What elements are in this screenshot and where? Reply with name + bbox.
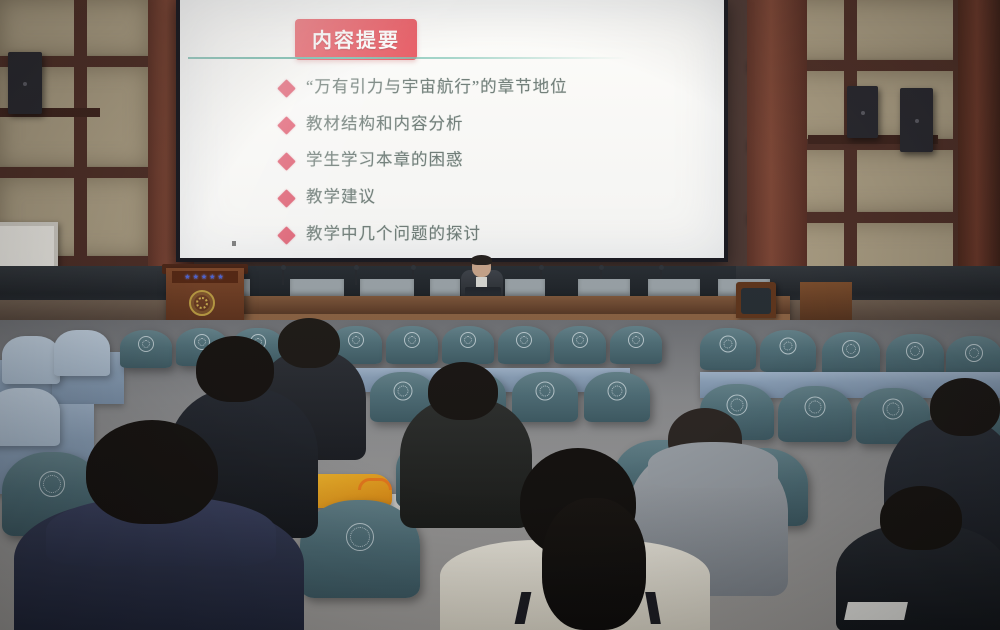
ponytail <box>542 498 646 630</box>
diamond-bullet-icon <box>277 79 295 97</box>
slide-bullet-item: 教学建议 <box>280 187 700 208</box>
seat-emblem-icon <box>780 337 797 354</box>
auditorium-seat[interactable] <box>512 372 578 422</box>
stage-side-table <box>800 282 852 320</box>
slide-bullet-text: 学生学习本章的困惑 <box>306 150 464 171</box>
lectern-emblem-icon <box>189 290 215 316</box>
papers-on-table <box>844 602 908 620</box>
diamond-bullet-icon <box>277 153 295 171</box>
wood-pilaster-right <box>747 0 807 300</box>
slide-bullet-item: 学生学习本章的困惑 <box>280 150 700 171</box>
presentation-slide: 内容提要 “万有引力与宇宙航行”的章节地位 教材结构和内容分析 学生学习本章的困… <box>180 0 724 258</box>
seat-emblem-icon <box>842 340 860 358</box>
slide-bullet-item: 教材结构和内容分析 <box>280 114 700 135</box>
desk-panel <box>430 279 460 296</box>
auditorium-seat[interactable] <box>700 328 756 370</box>
slide-bullet-text: “万有引力与宇宙航行”的章节地位 <box>306 77 568 98</box>
slide-bullet-text: 教学中几个问题的探讨 <box>306 224 481 245</box>
wood-pilaster-far-right <box>958 0 1000 300</box>
slide-bullet-item: 教学中几个问题的探讨 <box>280 224 700 245</box>
desk-panel <box>648 279 700 296</box>
attendee-head <box>428 362 498 420</box>
seat-emblem-icon <box>727 395 748 416</box>
auditorium-seat[interactable] <box>120 330 172 368</box>
microphone <box>355 268 357 285</box>
diamond-bullet-icon <box>277 189 295 207</box>
lectern-school-name: ★★★★★ <box>172 271 238 283</box>
slide-cursor-dot <box>232 241 236 246</box>
seat-emblem-icon <box>346 523 374 551</box>
seat-emblem-icon <box>536 382 555 401</box>
wall-speaker-right-a <box>847 86 878 138</box>
attendee-head <box>86 420 218 524</box>
seat-emblem-icon <box>39 471 65 497</box>
covered-chair <box>2 336 60 384</box>
slide-bullet-list: “万有引力与宇宙航行”的章节地位 教材结构和内容分析 学生学习本章的困惑 教学建… <box>280 77 700 258</box>
seat-emblem-icon <box>608 382 627 401</box>
seat-emblem-icon <box>460 332 476 348</box>
attendee-head <box>196 336 274 402</box>
projection-screen: 内容提要 “万有引力与宇宙航行”的章节地位 教材结构和内容分析 学生学习本章的困… <box>180 0 724 258</box>
auditorium-seat[interactable] <box>554 326 606 364</box>
seat-emblem-icon <box>516 332 532 348</box>
desk-panel <box>290 279 344 296</box>
seat-emblem-icon <box>906 342 924 360</box>
seat-emblem-icon <box>394 382 413 401</box>
auditorium-seat[interactable] <box>610 326 662 364</box>
auditorium-seat[interactable] <box>442 326 494 364</box>
slide-title-badge: 内容提要 <box>295 19 417 60</box>
desk-panel <box>578 279 630 296</box>
auditorium-seat[interactable] <box>498 326 550 364</box>
desk-panel <box>505 279 545 296</box>
yellow-bag-handle <box>358 478 392 490</box>
slide-title-rule <box>188 57 628 59</box>
desk-panel <box>360 279 414 296</box>
attendee-head <box>880 486 962 550</box>
diamond-bullet-icon <box>277 116 295 134</box>
stage-armchair-seat <box>741 288 771 314</box>
seat-emblem-icon <box>628 332 644 348</box>
auditorium-seat[interactable] <box>822 332 880 376</box>
seat-emblem-icon <box>805 397 826 418</box>
wall-speaker-right-b <box>900 88 933 152</box>
diamond-bullet-icon <box>277 226 295 244</box>
seat-emblem-icon <box>138 336 154 352</box>
covered-chair <box>54 330 110 376</box>
hoodie-hood <box>648 442 778 488</box>
seat-emblem-icon <box>572 332 588 348</box>
seat-emblem-icon <box>348 332 364 348</box>
slide-bullet-text: 教学建议 <box>306 187 376 208</box>
presenter-hair <box>471 255 492 265</box>
seat-emblem-icon <box>720 335 737 352</box>
seat-emblem-icon <box>404 332 420 348</box>
auditorium-seat[interactable] <box>584 372 650 422</box>
auditorium-seat[interactable] <box>778 386 852 442</box>
lecture-hall-scene: 内容提要 “万有引力与宇宙航行”的章节地位 教材结构和内容分析 学生学习本章的困… <box>0 0 1000 630</box>
covered-chair <box>0 388 60 446</box>
attendee-head <box>930 378 1000 436</box>
wall-speaker-left <box>8 52 42 114</box>
seat-emblem-icon <box>883 399 904 420</box>
auditorium-seat[interactable] <box>760 330 816 372</box>
slide-bullet-item: “万有引力与宇宙航行”的章节地位 <box>280 77 700 98</box>
auditorium-seat[interactable] <box>386 326 438 364</box>
microphone <box>282 268 284 285</box>
projection-screen-frame: 内容提要 “万有引力与宇宙航行”的章节地位 教材结构和内容分析 学生学习本章的困… <box>176 0 728 262</box>
attendee-head <box>278 318 340 368</box>
seat-emblem-icon <box>965 344 983 362</box>
slide-bullet-text: 教材结构和内容分析 <box>306 114 464 135</box>
